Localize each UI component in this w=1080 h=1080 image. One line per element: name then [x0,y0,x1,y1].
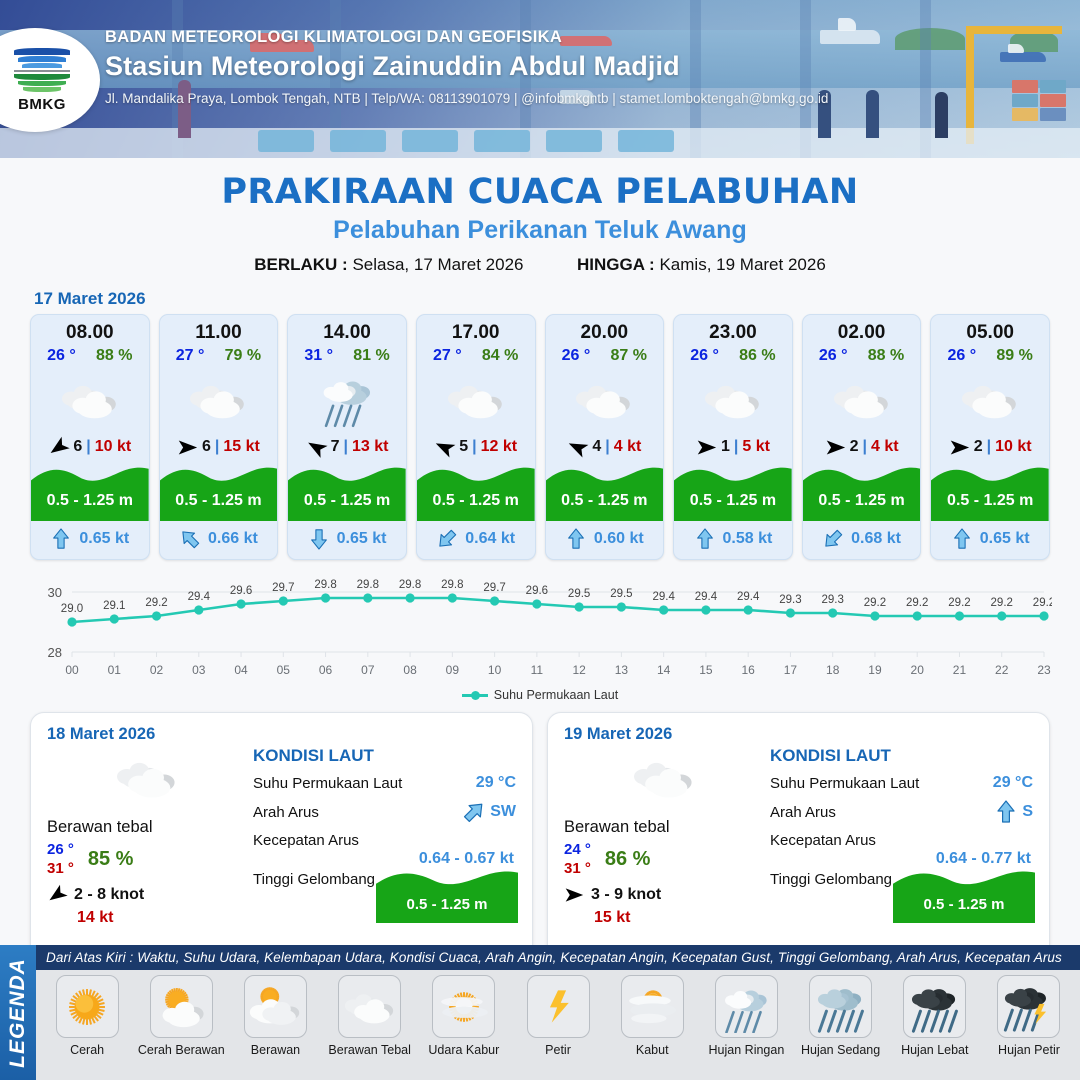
validity-line: BERLAKU : Selasa, 17 Maret 2026 HINGGA :… [0,255,1080,275]
card-wind-value: 2 [850,438,859,456]
svg-text:08: 08 [403,663,417,677]
legend-item-label: Hujan Lebat [901,1043,968,1057]
hourly-card: 02.00 26 ° 88 % 2 | 4 kt 0.5 - 1.25 m [802,314,922,560]
valid-until-label: HINGGA : [577,255,655,274]
chart-legend: Suhu Permukaan Laut [0,688,1080,702]
svg-text:29.1: 29.1 [103,600,125,612]
card-gust: 5 kt [742,438,770,456]
legend-item-label: Berawan Tebal [328,1043,410,1057]
card-humidity: 79 % [225,347,261,365]
svg-text:29.7: 29.7 [483,582,505,594]
weather-icon-berawan-tebal [674,369,792,431]
panel-temp-min: 24 ° [564,841,591,858]
svg-text:29.6: 29.6 [526,585,548,597]
wind-direction-arrow-icon [48,437,69,458]
sea-row-label: Suhu Permukaan Laut [770,775,919,792]
panel-gust: 14 kt [77,909,247,927]
weather-icon-berawan-tebal [47,748,247,808]
hourly-card: 11.00 27 ° 79 % 6 | 15 kt 0.5 - 1.25 m [159,314,279,560]
title-block: PRAKIRAAN CUACA PELABUHAN Pelabuhan Peri… [0,172,1080,275]
wind-direction-arrow-icon [567,437,588,458]
svg-text:30: 30 [48,585,62,600]
svg-text:17: 17 [784,663,798,677]
card-separator: | [215,438,219,456]
legend-item: Petir [511,975,605,1057]
svg-text:11: 11 [531,663,544,677]
legend-items: Cerah Cerah Berawan Berawan [36,970,1080,1057]
panel-gust: 15 kt [594,909,764,927]
wave-height-band: 0.5 - 1.25 m [288,463,406,521]
legend-icon-hujan-lebat [903,975,966,1038]
svg-text:29.2: 29.2 [991,597,1013,609]
svg-text:15: 15 [699,663,713,677]
card-temperature: 27 ° [176,347,205,365]
hourly-card: 05.00 26 ° 89 % 2 | 10 kt 0.5 - 1.25 m [930,314,1050,560]
legend-icon-berawan-tebal [338,975,401,1038]
svg-text:29.4: 29.4 [737,591,760,603]
card-separator: | [344,438,348,456]
sea-surface-temp-value: 29 °C [993,774,1033,792]
hourly-card: 23.00 26 ° 86 % 1 | 5 kt 0.5 - 1.25 m [673,314,793,560]
card-temperature: 26 ° [819,347,848,365]
card-time: 20.00 [546,315,664,344]
card-gust: 13 kt [352,438,388,456]
wind-direction-arrow-icon [696,437,717,458]
card-wave-height: 0.5 - 1.25 m [288,492,406,510]
card-temperature: 27 ° [433,347,462,365]
daily-forecast-panel: 19 Maret 2026 Berawan tebal 24 ° 31 ° 86 [547,712,1050,960]
panel-temp-min: 26 ° [47,841,74,858]
card-temperature: 31 ° [304,347,333,365]
panel-date: 18 Maret 2026 [47,725,516,744]
legend-item: Udara Kabur [417,975,511,1057]
panel-temp-max: 31 ° [47,860,74,877]
card-humidity: 88 % [868,347,904,365]
card-gust: 10 kt [995,438,1031,456]
panel-wind-range: 2 - 8 knot [74,886,144,904]
hourly-card: 17.00 27 ° 84 % 5 | 12 kt 0.5 - 1.25 m [416,314,536,560]
wind-direction-arrow-icon [825,437,846,458]
current-direction-arrow-icon [822,528,844,550]
current-direction-value: S [1022,803,1033,821]
legend-series-label: Suhu Permukaan Laut [494,688,618,702]
card-temperature: 26 ° [948,347,977,365]
legend-item: Kabut [605,975,699,1057]
card-time: 05.00 [931,315,1049,344]
page-subtitle: Pelabuhan Perikanan Teluk Awang [0,216,1080,245]
card-wave-height: 0.5 - 1.25 m [160,492,278,510]
card-time: 17.00 [417,315,535,344]
hourly-day-label: 17 Maret 2026 [34,289,1080,309]
card-separator: | [734,438,738,456]
svg-text:28: 28 [48,645,62,660]
svg-text:13: 13 [615,663,629,677]
card-humidity: 89 % [996,347,1032,365]
card-current-speed: 0.65 kt [79,530,129,548]
sea-surface-temp-value: 29 °C [476,774,516,792]
card-separator: | [987,438,991,456]
hourly-forecast-row: 08.00 26 ° 88 % 6 | 10 kt 0.5 - 1.25 m [0,314,1080,560]
svg-text:22: 22 [995,663,1009,677]
svg-text:18: 18 [826,663,840,677]
contact-info: Jl. Mandalika Praya, Lombok Tengah, NTB … [105,91,828,106]
legend-item: Hujan Petir [982,975,1076,1057]
legend-icon-hujan-sedang [809,975,872,1038]
station-name: Stasiun Meteorologi Zainuddin Abdul Madj… [105,51,828,82]
sea-row-label: Suhu Permukaan Laut [253,775,402,792]
weather-icon-berawan-tebal [31,369,149,431]
svg-text:07: 07 [361,663,375,677]
card-time: 23.00 [674,315,792,344]
current-direction-arrow-icon [308,528,330,550]
svg-text:29.2: 29.2 [948,597,970,609]
card-current-speed: 0.64 kt [465,530,515,548]
weather-icon-berawan-tebal [803,369,921,431]
wave-height-band: 0.5 - 1.25 m [546,463,664,521]
svg-text:04: 04 [234,663,248,677]
panel-humidity: 86 % [605,848,651,871]
current-direction-arrow-icon [179,528,201,550]
card-gust: 15 kt [223,438,259,456]
card-temperature: 26 ° [690,347,719,365]
wind-direction-arrow-icon [177,437,198,458]
svg-text:29.3: 29.3 [779,594,801,606]
card-time: 02.00 [803,315,921,344]
wave-height-band: 0.5 - 1.25 m [931,463,1049,521]
wind-direction-arrow-icon [949,437,970,458]
current-direction-arrow-icon [951,528,973,550]
legend-icon-petir [527,975,590,1038]
card-time: 11.00 [160,315,278,344]
svg-text:23: 23 [1037,663,1051,677]
panel-temp-max: 31 ° [564,860,591,877]
card-current-speed: 0.68 kt [851,530,901,548]
wind-direction-arrow-icon [564,885,584,905]
panel-wave-height: 0.5 - 1.25 m [893,896,1035,913]
weather-icon-berawan-tebal [546,369,664,431]
valid-from-value: Selasa, 17 Maret 2026 [352,255,523,274]
legend-line-marker [462,694,488,697]
card-wind-value: 2 [974,438,983,456]
svg-text:29.8: 29.8 [441,579,463,591]
wind-direction-arrow-icon [47,885,67,905]
card-current-speed: 0.65 kt [980,530,1030,548]
svg-text:29.4: 29.4 [652,591,675,603]
card-time: 14.00 [288,315,406,344]
legend-item-label: Hujan Sedang [801,1043,880,1057]
card-wave-height: 0.5 - 1.25 m [417,492,535,510]
wave-height-band: 0.5 - 1.25 m [674,463,792,521]
svg-text:29.8: 29.8 [314,579,336,591]
current-speed-value: 0.64 - 0.77 kt [936,850,1031,868]
weather-icon-berawan-tebal [564,748,764,808]
svg-text:29.2: 29.2 [864,597,886,609]
wave-height-band: 0.5 - 1.25 m [417,463,535,521]
card-wind-value: 6 [73,438,82,456]
current-direction-arrow-icon [565,528,587,550]
legend-icon-cerah-berawan [150,975,213,1038]
svg-text:01: 01 [108,663,122,677]
svg-text:12: 12 [572,663,586,677]
panel-wave-band: 0.5 - 1.25 m [893,867,1035,923]
current-direction-value: SW [490,803,516,821]
hourly-card: 08.00 26 ° 88 % 6 | 10 kt 0.5 - 1.25 m [30,314,150,560]
weather-icon-berawan-tebal [160,369,278,431]
sea-conditions-title: KONDISI LAUT [253,746,516,766]
bmkg-logo-text: BMKG [18,96,66,113]
svg-text:29.4: 29.4 [695,591,718,603]
sea-row-label: Kecepatan Arus [253,832,359,849]
wave-height-band: 0.5 - 1.25 m [803,463,921,521]
organization-name: BADAN METEOROLOGI KLIMATOLOGI DAN GEOFIS… [105,28,828,47]
hourly-card: 14.00 31 ° 81 % 7 | 13 kt 0.5 - 1.25 m [287,314,407,560]
svg-text:20: 20 [911,663,925,677]
card-humidity: 81 % [353,347,389,365]
svg-text:29.2: 29.2 [145,597,167,609]
card-temperature: 26 ° [562,347,591,365]
current-direction-arrow-icon [462,800,486,824]
current-direction-arrow-icon [694,528,716,550]
legend-item: Cerah Berawan [134,975,228,1057]
legend-item: Cerah [40,975,134,1057]
card-current-speed: 0.60 kt [594,530,644,548]
svg-text:02: 02 [150,663,164,677]
valid-until-value: Kamis, 19 Maret 2026 [659,255,825,274]
daily-panels-row: 18 Maret 2026 Berawan tebal 26 ° 31 ° 85 [0,702,1080,960]
weather-icon-hujan-ringan [288,369,406,431]
legend-item-label: Cerah Berawan [138,1043,225,1057]
legend-item-label: Petir [545,1043,571,1057]
legend-bar: LEGENDA Dari Atas Kiri : Waktu, Suhu Uda… [0,945,1080,1080]
legend-side-title: LEGENDA [0,945,36,1080]
panel-condition: Berawan tebal [47,818,247,837]
sea-row-label: Arah Arus [253,804,319,821]
legend-item: Hujan Sedang [794,975,888,1057]
panel-humidity: 85 % [88,848,134,871]
card-humidity: 88 % [96,347,132,365]
legend-item: Hujan Ringan [699,975,793,1057]
legend-item: Hujan Lebat [888,975,982,1057]
current-direction-arrow-icon [994,800,1018,824]
legend-icon-berawan [244,975,307,1038]
card-wind-value: 5 [459,438,468,456]
legend-item: Berawan Tebal [323,975,417,1057]
legend-item-label: Hujan Petir [998,1043,1060,1057]
card-wave-height: 0.5 - 1.25 m [674,492,792,510]
legend-item-label: Udara Kabur [428,1043,499,1057]
valid-from-label: BERLAKU : [254,255,348,274]
header-banner: BMKG BADAN METEOROLOGI KLIMATOLOGI DAN G… [0,0,1080,158]
card-wind-value: 4 [592,438,601,456]
svg-text:29.5: 29.5 [610,588,632,600]
svg-text:29.0: 29.0 [61,603,83,615]
panel-condition: Berawan tebal [564,818,764,837]
panel-wave-band: 0.5 - 1.25 m [376,867,518,923]
page-title: PRAKIRAAN CUACA PELABUHAN [0,172,1080,212]
panel-wind-range: 3 - 9 knot [591,886,661,904]
svg-text:05: 05 [277,663,291,677]
svg-text:09: 09 [446,663,460,677]
legend-note: Dari Atas Kiri : Waktu, Suhu Udara, Kele… [36,945,1080,970]
legend-item-label: Hujan Ringan [709,1043,785,1057]
svg-text:06: 06 [319,663,333,677]
card-separator: | [472,438,476,456]
card-current-speed: 0.65 kt [337,530,387,548]
legend-item-label: Berawan [251,1043,300,1057]
panel-wave-height: 0.5 - 1.25 m [376,896,518,913]
card-current-speed: 0.58 kt [723,530,773,548]
card-wave-height: 0.5 - 1.25 m [546,492,664,510]
wind-direction-arrow-icon [306,437,327,458]
weather-icon-berawan-tebal [417,369,535,431]
svg-text:03: 03 [192,663,206,677]
card-time: 08.00 [31,315,149,344]
sea-row-label: Tinggi Gelombang [770,871,892,888]
svg-text:29.6: 29.6 [230,585,252,597]
svg-text:00: 00 [65,663,79,677]
card-temperature: 26 ° [47,347,76,365]
legend-icon-udara-kabur [432,975,495,1038]
legend-icon-hujan-ringan [715,975,778,1038]
legend-icon-kabut [621,975,684,1038]
card-gust: 4 kt [614,438,642,456]
sea-row-label: Tinggi Gelombang [253,871,375,888]
legend-item-label: Cerah [70,1043,104,1057]
sea-row-label: Kecepatan Arus [770,832,876,849]
hourly-card: 20.00 26 ° 87 % 4 | 4 kt 0.5 - 1.25 m [545,314,665,560]
card-gust: 10 kt [95,438,131,456]
legend-icon-hujan-petir [997,975,1060,1038]
legend-item-label: Kabut [636,1043,669,1057]
card-wave-height: 0.5 - 1.25 m [31,492,149,510]
card-wind-value: 1 [721,438,730,456]
svg-text:10: 10 [488,663,502,677]
svg-text:29.7: 29.7 [272,582,294,594]
current-speed-value: 0.64 - 0.67 kt [419,850,514,868]
svg-text:29.8: 29.8 [357,579,379,591]
svg-text:19: 19 [868,663,882,677]
wind-direction-arrow-icon [434,437,455,458]
svg-text:16: 16 [741,663,755,677]
card-wind-value: 7 [331,438,340,456]
svg-text:29.8: 29.8 [399,579,421,591]
svg-text:29.2: 29.2 [906,597,928,609]
daily-forecast-panel: 18 Maret 2026 Berawan tebal 26 ° 31 ° 85 [30,712,533,960]
card-current-speed: 0.66 kt [208,530,258,548]
current-direction-arrow-icon [436,528,458,550]
current-direction-arrow-icon [50,528,72,550]
card-humidity: 86 % [739,347,775,365]
card-separator: | [605,438,609,456]
card-gust: 4 kt [871,438,899,456]
svg-text:14: 14 [657,663,671,677]
bmkg-logo-mark [14,48,70,94]
card-wave-height: 0.5 - 1.25 m [803,492,921,510]
legend-item: Berawan [228,975,322,1057]
svg-text:21: 21 [953,663,967,677]
card-wind-value: 6 [202,438,211,456]
wave-height-band: 0.5 - 1.25 m [31,463,149,521]
card-separator: | [862,438,866,456]
svg-text:29.3: 29.3 [822,594,844,606]
card-wave-height: 0.5 - 1.25 m [931,492,1049,510]
svg-text:29.2: 29.2 [1033,597,1052,609]
sea-conditions-title: KONDISI LAUT [770,746,1033,766]
card-separator: | [86,438,90,456]
weather-icon-berawan-tebal [931,369,1049,431]
svg-text:29.4: 29.4 [188,591,211,603]
card-gust: 12 kt [481,438,517,456]
legend-icon-cerah [56,975,119,1038]
sea-row-label: Arah Arus [770,804,836,821]
sst-chart: 283029.029.129.229.429.629.729.829.829.8… [28,568,1052,686]
wave-height-band: 0.5 - 1.25 m [160,463,278,521]
card-humidity: 87 % [611,347,647,365]
card-humidity: 84 % [482,347,518,365]
panel-date: 19 Maret 2026 [564,725,1033,744]
svg-text:29.5: 29.5 [568,588,590,600]
